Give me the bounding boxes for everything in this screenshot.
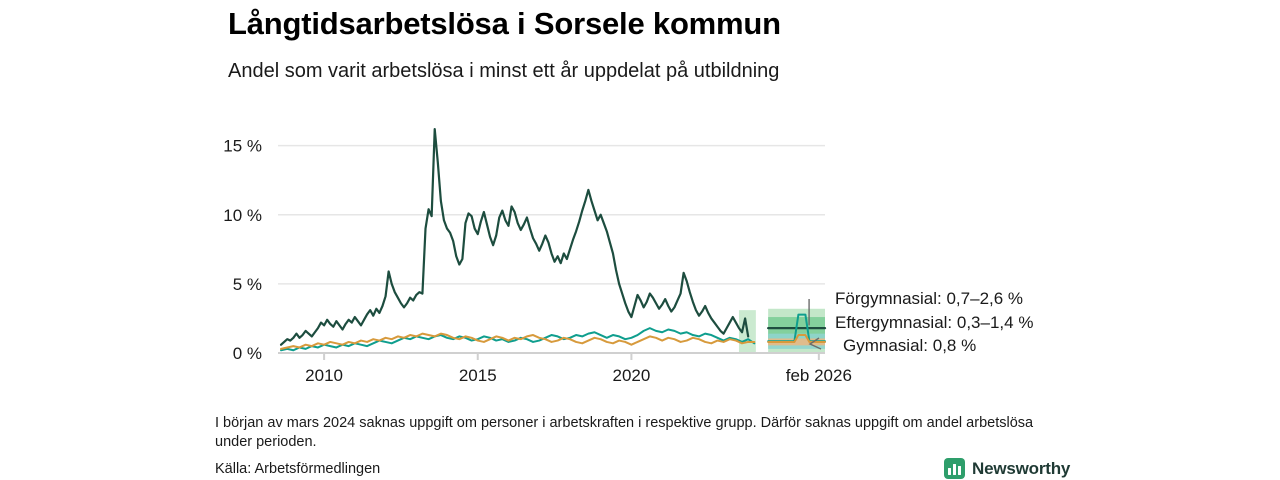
chart-plot-area: 0 %5 %10 %15 % 201020152020feb 2026 Förg… [0, 100, 1280, 395]
line-chart-svg: 0 %5 %10 %15 % 201020152020feb 2026 Förg… [0, 100, 1280, 395]
x-axis-labels-group: 201020152020feb 2026 [305, 366, 852, 385]
gridlines-group [278, 146, 825, 284]
x-axis-tick-label: 2020 [612, 366, 650, 385]
y-axis-tick-label: 0 % [233, 344, 262, 363]
legend-labels-group: Förgymnasial: 0,7–2,6 %Eftergymnasial: 0… [835, 289, 1033, 355]
chart-card: Långtidsarbetslösa i Sorsele kommun Ande… [0, 0, 1280, 480]
forecast-band-group [739, 309, 825, 353]
legend-label-gymnasial: Gymnasial: 0,8 % [843, 336, 976, 355]
y-axis-tick-label: 5 % [233, 275, 262, 294]
y-axis-tick-label: 15 % [223, 137, 262, 156]
bar-chart-icon [944, 458, 965, 479]
legend-label-eftergymnasial: Eftergymnasial: 0,3–1,4 % [835, 313, 1033, 332]
series-line-förgymnasial [281, 129, 748, 345]
x-axis-tick-label: 2015 [459, 366, 497, 385]
newsworthy-logo: Newsworthy [944, 458, 1070, 479]
x-axis-tick-label: 2010 [305, 366, 343, 385]
axis-baseline-group [278, 353, 825, 360]
x-axis-tick-label: feb 2026 [786, 366, 852, 385]
y-axis-labels-group: 0 %5 %10 %15 % [223, 137, 262, 363]
source-text: Källa: Arbetsförmedlingen [215, 461, 380, 477]
footnote-text: I början av mars 2024 saknas uppgift om … [215, 414, 1060, 451]
page-title: Långtidsarbetslösa i Sorsele kommun [228, 6, 781, 42]
logo-wordmark: Newsworthy [972, 459, 1070, 479]
legend-label-förgymnasial: Förgymnasial: 0,7–2,6 % [835, 289, 1023, 308]
series-line-gymnasial [281, 334, 754, 349]
y-axis-tick-label: 10 % [223, 206, 262, 225]
page-subtitle: Andel som varit arbetslösa i minst ett å… [228, 60, 779, 83]
